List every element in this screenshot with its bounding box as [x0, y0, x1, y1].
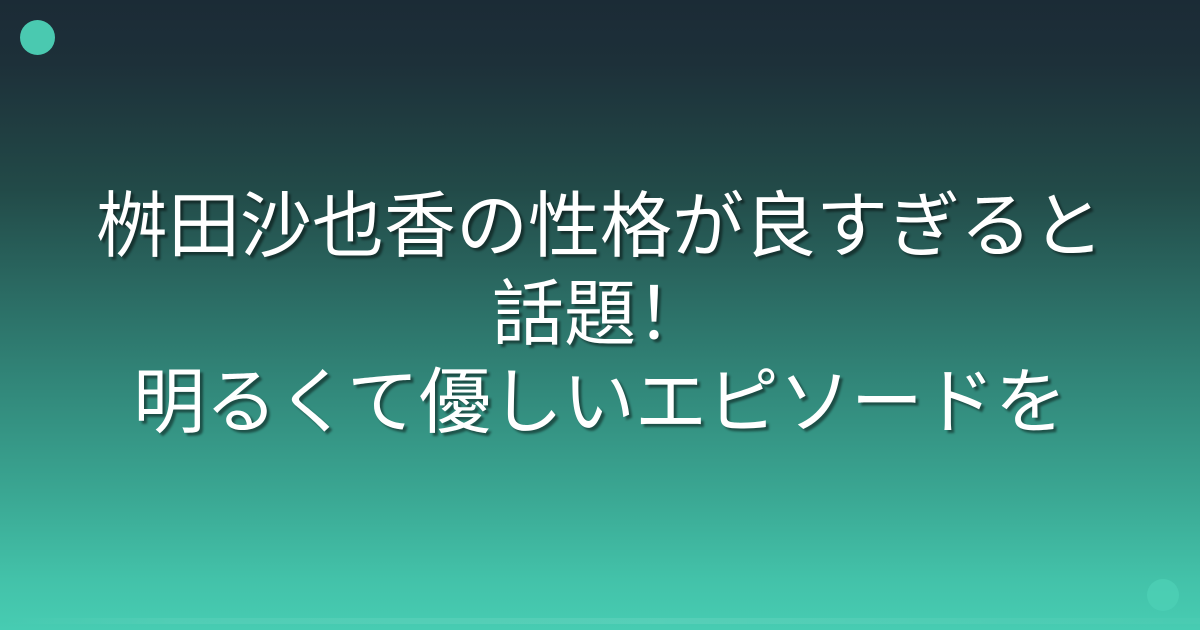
og-image-card: 桝田沙也香の性格が良すぎると 話題！ 明るくて優しいエピソードを — [0, 0, 1200, 630]
title-container: 桝田沙也香の性格が良すぎると 話題！ 明るくて優しいエピソードを — [0, 0, 1200, 630]
page-title: 桝田沙也香の性格が良すぎると 話題！ 明るくて優しいエピソードを — [56, 183, 1144, 447]
